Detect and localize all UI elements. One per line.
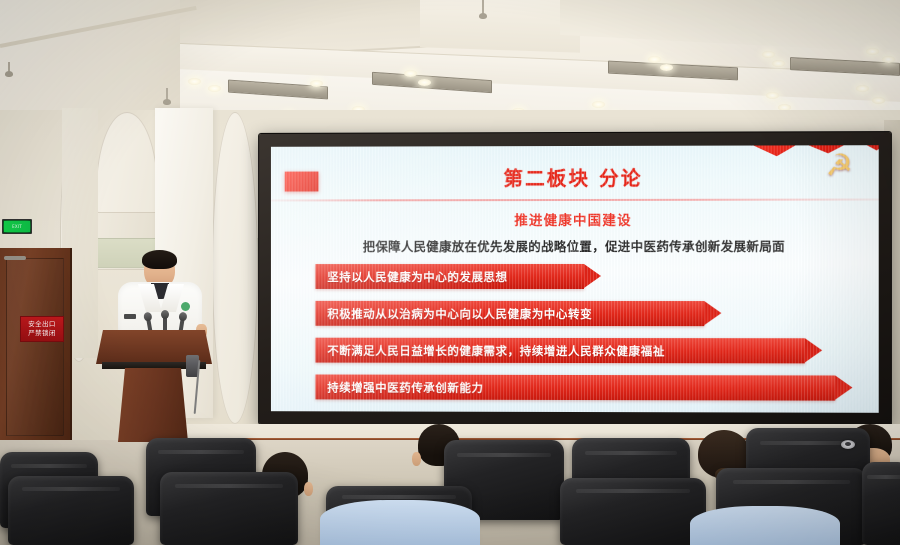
ceiling-light (866, 48, 879, 55)
ceiling-pendant (166, 88, 168, 100)
ceiling-light (766, 92, 779, 99)
arrow-banner-body: 坚持以人民健康为中心的发展思想 (315, 264, 584, 289)
ceiling-light (592, 101, 605, 108)
emergency-exit-icon: EXIT (2, 219, 32, 234)
ceiling-light (208, 85, 221, 92)
arrow-banner: 持续增强中医药传承创新能力 (271, 374, 879, 400)
chair[interactable] (560, 478, 706, 545)
arrow-banner-body: 持续增强中医药传承创新能力 (315, 375, 835, 401)
ceiling-light (872, 97, 885, 104)
ceiling-light (418, 79, 431, 86)
chair-logo-icon (841, 440, 855, 449)
arrow-banner: 坚持以人民健康为中心的发展思想 (271, 264, 879, 289)
exit-sign-label: EXIT (4, 221, 30, 232)
ceiling-light (188, 78, 201, 85)
arrow-banner-text: 不断满足人民日益增长的健康需求，持续增进人民群众健康福祉 (327, 342, 665, 358)
arrow-banner-text: 持续增强中医药传承创新能力 (327, 379, 483, 395)
ceiling-light (762, 51, 775, 58)
ceiling-light (648, 56, 661, 63)
ceiling-pendant (482, 0, 484, 14)
slide-lead-text: 把保障人民健康放在优先发展的战略位置，促进中医药传承创新发展新局面 (271, 236, 879, 255)
door-panel (6, 258, 64, 436)
safety-sign-line-1: 安全出口 (28, 320, 56, 329)
podium (96, 330, 212, 442)
wall-panel (212, 112, 258, 424)
presentation-screen-bezel: ☭ 第二板块 分论 推进健康中国建设 把保障人民健康放在优先发展的战略位置，促进… (259, 132, 891, 426)
name-badge (124, 314, 136, 319)
ceiling-recess-right (560, 0, 900, 53)
arrow-banner: 积极推动从以治病为中心向以人民健康为中心转变 (271, 301, 879, 326)
ceiling-pendant (8, 62, 10, 72)
ceiling-recess-center (420, 0, 580, 53)
arrow-banner: 不断满足人民日益增长的健康需求，持续增进人民群众健康福祉 (271, 338, 879, 364)
arrow-banner-body: 不断满足人民日益增长的健康需求，持续增进人民群众健康福祉 (315, 338, 805, 364)
ceiling-light (404, 70, 417, 77)
podium-base (118, 368, 188, 442)
slide-bullet-arrows: 坚持以人民健康为中心的发展思想 积极推动从以治病为中心向以人民健康为中心转变 不… (271, 264, 879, 413)
arrow-banner-text: 积极推动从以治病为中心向以人民健康为中心转变 (327, 305, 592, 321)
chair[interactable] (8, 476, 134, 545)
arrow-banner-text: 坚持以人民健康为中心的发展思想 (327, 269, 507, 285)
ceiling-light (310, 80, 323, 87)
coat-logo-icon (181, 302, 190, 311)
slide-subtitle: 推进健康中国建设 (271, 209, 879, 230)
audience-person-shirt (690, 506, 840, 545)
ceiling-light (882, 56, 895, 63)
chair[interactable] (160, 472, 298, 545)
safety-sign-line-2: 严禁锁闭 (28, 329, 56, 338)
arrow-banner-body: 积极推动从以治病为中心向以人民健康为中心转变 (315, 301, 704, 326)
audience-ear (304, 482, 313, 496)
presentation-slide[interactable]: ☭ 第二板块 分论 推进健康中国建设 把保障人民健康放在优先发展的战略位置，促进… (271, 145, 879, 413)
door-closer-arm (4, 256, 26, 260)
ceiling-light (660, 64, 673, 71)
slide-title: 第二板块 分论 (271, 161, 879, 191)
ceiling-light (772, 60, 785, 67)
exit-door[interactable] (0, 248, 72, 448)
audience-person-shirt (320, 500, 480, 545)
audience-ear (412, 452, 421, 466)
ceiling-light (856, 85, 869, 92)
safety-exit-sign: 安全出口 严禁锁闭 (20, 316, 64, 342)
chair[interactable] (862, 462, 900, 545)
speaker-hair (142, 250, 177, 269)
conference-room-scene: EXIT 安全出口 严禁锁闭 ☭ 第二板块 分论 推进健康中国建设 把保障人民健… (0, 0, 900, 545)
